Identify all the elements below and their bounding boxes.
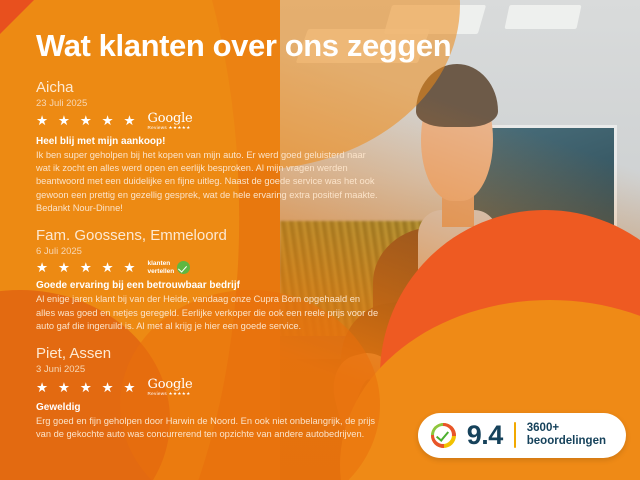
- google-reviews-badge: Google Reviews ★★★★★: [148, 112, 193, 131]
- google-reviews-sublabel: Reviews ★★★★★: [148, 392, 193, 397]
- review-item: Aicha 23 Juli 2025 ★ ★ ★ ★ ★ Google Revi…: [36, 79, 381, 216]
- review-date: 3 Juni 2025: [36, 364, 381, 375]
- review-title: Geweldig: [36, 402, 381, 413]
- klantenvertellen-seal-icon: [431, 423, 456, 448]
- review-title: Goede ervaring bij een betrouwbaar bedri…: [36, 280, 381, 291]
- overall-score-badge[interactable]: 9.4 3600+ beoordelingen: [418, 413, 626, 458]
- review-item: Fam. Goossens, Emmeloord 6 Juli 2025 ★ ★…: [36, 227, 381, 334]
- divider: [514, 422, 516, 448]
- review-body: Ik ben super geholpen bij het kopen van …: [36, 149, 381, 216]
- reviewer-name: Aicha: [36, 79, 381, 97]
- star-rating: ★ ★ ★ ★ ★: [36, 114, 139, 128]
- review-banner: Wat klanten over ons zeggen Aicha 23 Jul…: [0, 0, 640, 480]
- green-check-icon: [177, 261, 190, 274]
- klantenvertellen-badge: klanten vertellen: [148, 260, 191, 275]
- review-body: Al enige jaren klant bij van der Heide, …: [36, 293, 381, 333]
- review-title: Heel blij met mijn aankoop!: [36, 136, 381, 147]
- klantenvertellen-label-line1: klanten: [148, 260, 171, 267]
- score-caption: 3600+ beoordelingen: [527, 422, 606, 449]
- review-body: Erg goed en fijn geholpen door Harwin de…: [36, 415, 381, 442]
- google-logo-text: Google: [148, 112, 193, 125]
- rating-row: ★ ★ ★ ★ ★ Google Reviews ★★★★★: [36, 112, 381, 131]
- page-title: Wat klanten over ons zeggen: [36, 30, 640, 63]
- score-value: 9.4: [467, 422, 503, 449]
- google-logo-text: Google: [148, 378, 193, 391]
- review-count: 3600+: [527, 422, 606, 436]
- google-reviews-badge: Google Reviews ★★★★★: [148, 378, 193, 397]
- rating-row: ★ ★ ★ ★ ★ Google Reviews ★★★★★: [36, 378, 381, 397]
- reviewer-name: Piet, Assen: [36, 345, 381, 363]
- review-count-label: beoordelingen: [527, 435, 606, 449]
- review-item: Piet, Assen 3 Juni 2025 ★ ★ ★ ★ ★ Google…: [36, 345, 381, 442]
- content-column: Wat klanten over ons zeggen Aicha 23 Jul…: [0, 0, 640, 480]
- review-date: 6 Juli 2025: [36, 246, 381, 257]
- reviewer-name: Fam. Goossens, Emmeloord: [36, 227, 381, 245]
- rating-row: ★ ★ ★ ★ ★ klanten vertellen: [36, 260, 381, 275]
- review-date: 23 Juli 2025: [36, 98, 381, 109]
- star-rating: ★ ★ ★ ★ ★: [36, 261, 139, 275]
- star-rating: ★ ★ ★ ★ ★: [36, 381, 139, 395]
- klantenvertellen-label-line2: vertellen: [148, 268, 175, 275]
- google-reviews-sublabel: Reviews ★★★★★: [148, 126, 193, 131]
